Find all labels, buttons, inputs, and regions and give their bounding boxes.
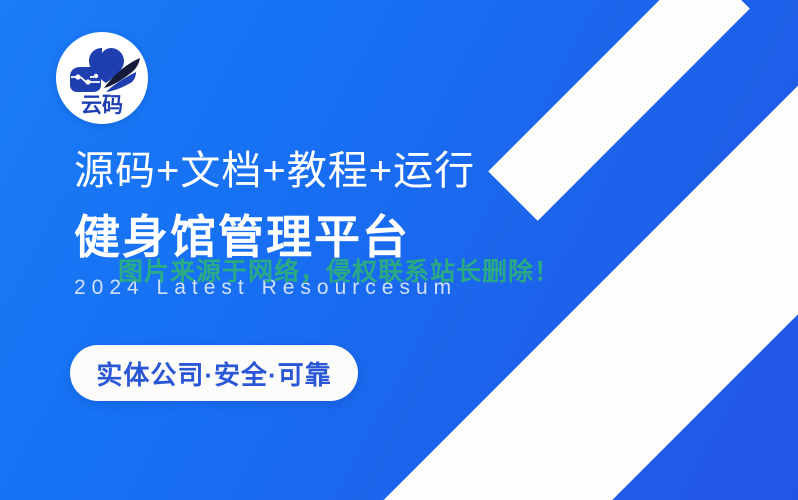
page-title: 健身馆管理平台: [74, 209, 714, 265]
trust-badge[interactable]: 实体公司·安全·可靠: [70, 345, 358, 401]
banner-tagline: 2024 Latest Resourcesum: [74, 275, 714, 301]
trust-badge-label: 实体公司·安全·可靠: [96, 355, 331, 392]
yunma-logo-icon: 云码: [56, 32, 148, 124]
logo-wordmark: 云码: [81, 94, 123, 117]
logo-circuit-dot: [75, 74, 80, 79]
logo-car-shape: [70, 67, 101, 92]
brand-logo: 云码: [56, 32, 148, 124]
banner-subtitle: 源码+文档+教程+运行: [74, 145, 714, 197]
promo-banner: 云码 源码+文档+教程+运行 健身馆管理平台 2024 Latest Resou…: [0, 0, 798, 500]
headline-group: 源码+文档+教程+运行 健身馆管理平台 2024 Latest Resource…: [74, 145, 714, 301]
logo-circuit-dot: [85, 79, 90, 84]
logo-circuit-dot: [94, 74, 98, 78]
